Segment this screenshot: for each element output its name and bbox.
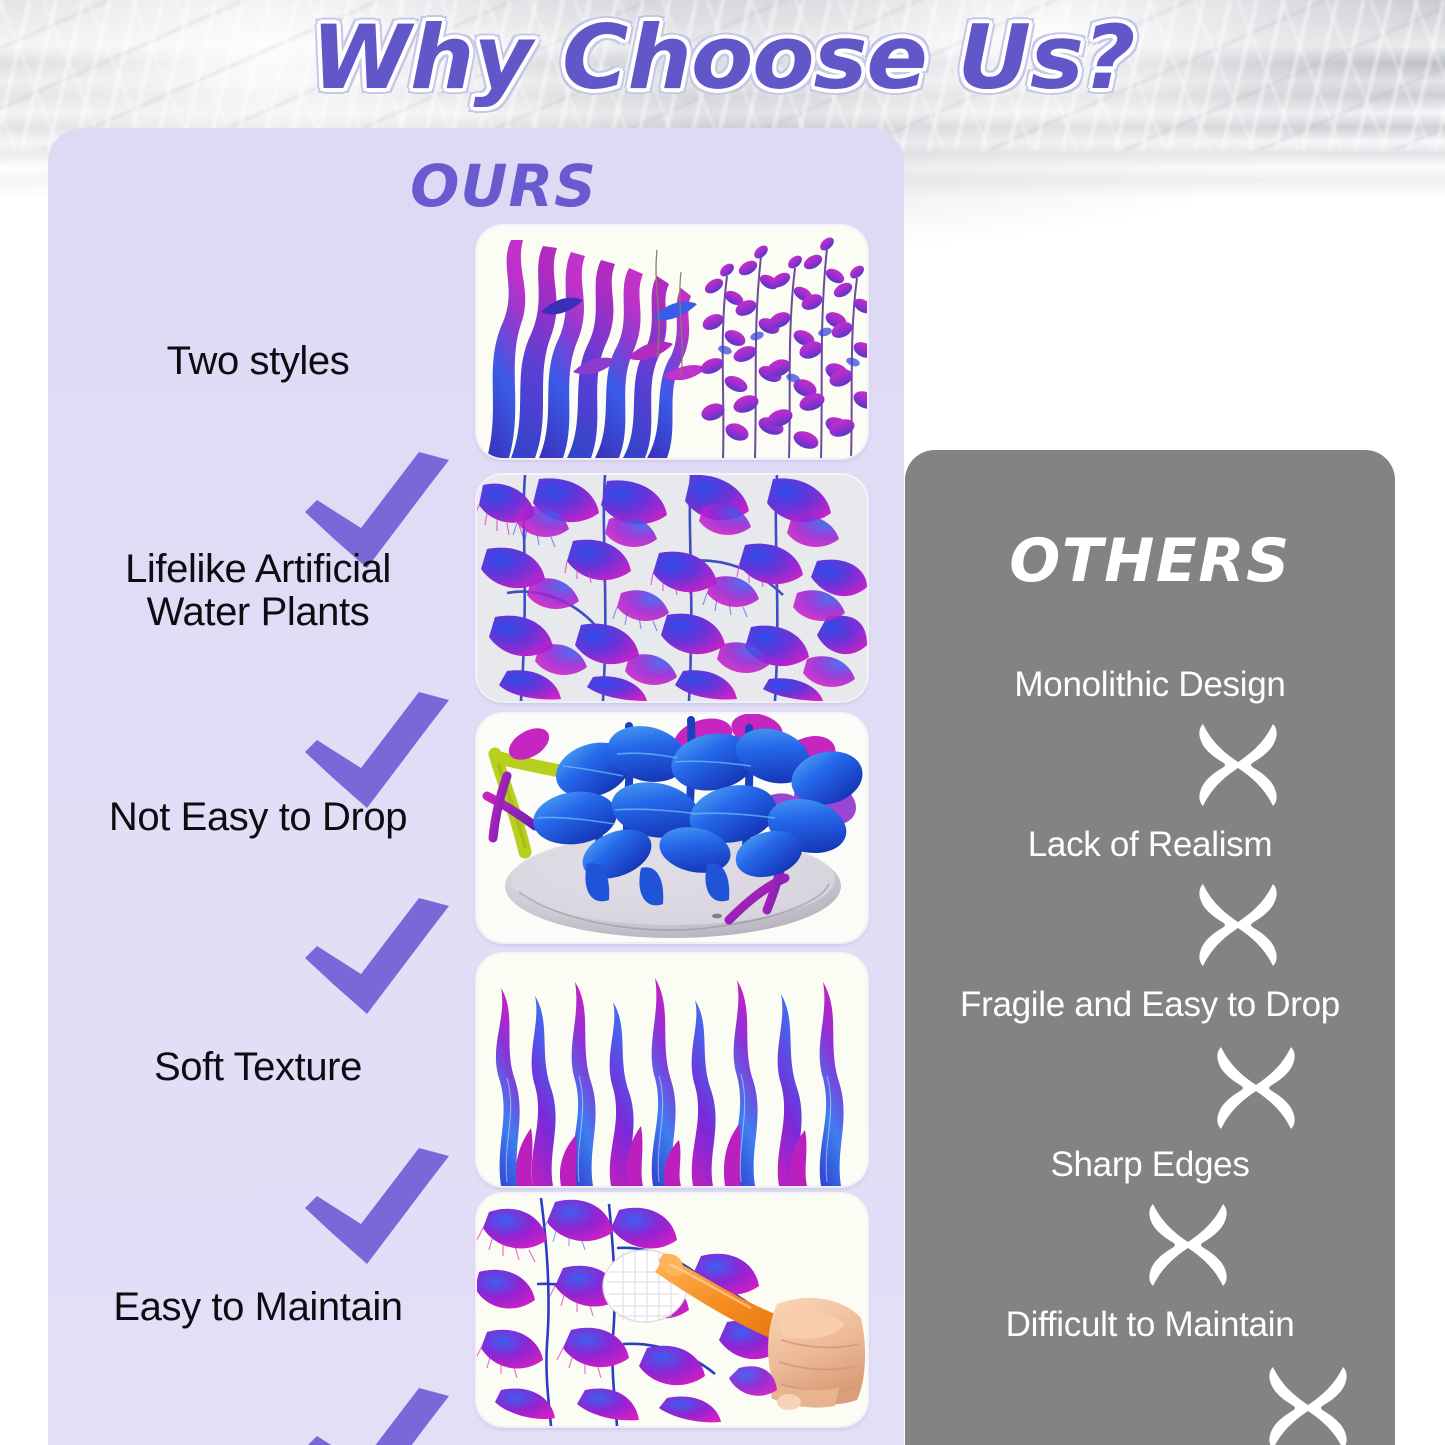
ours-panel: OURS Two styles xyxy=(48,128,904,1445)
lifelike-leaves-photo xyxy=(477,475,867,701)
ours-item-label-5: Easy to Maintain xyxy=(58,1286,458,1329)
ours-item-label-3: Not Easy to Drop xyxy=(58,796,458,839)
others-panel: OTHERS Monolithic Design Lack of Realism… xyxy=(905,450,1395,1445)
cross-icon xyxy=(1213,1045,1299,1131)
others-item-label-5: Difficult to Maintain xyxy=(905,1305,1395,1345)
others-item-label-2: Lack of Realism xyxy=(905,825,1395,865)
page-title-wrap: Why Choose Us? xyxy=(0,6,1445,109)
check-icon xyxy=(303,896,451,1016)
cross-icon xyxy=(1265,1365,1351,1445)
weighted-base-photo xyxy=(477,714,867,942)
others-item-label-4: Sharp Edges xyxy=(905,1145,1395,1185)
check-icon xyxy=(303,1386,451,1445)
others-heading: OTHERS xyxy=(1009,526,1291,596)
page-title: Why Choose Us? xyxy=(311,6,1134,109)
others-heading-wrap: OTHERS xyxy=(905,526,1395,596)
soft-texture-photo xyxy=(477,954,867,1186)
ours-item-label-2: Lifelike Artificial Water Plants xyxy=(58,548,458,634)
cross-icon xyxy=(1195,722,1281,808)
others-item-label-3: Fragile and Easy to Drop xyxy=(905,985,1395,1025)
check-icon xyxy=(303,690,451,810)
ours-heading-wrap: OURS xyxy=(48,152,904,220)
ours-item-label-4: Soft Texture xyxy=(58,1046,458,1089)
cross-icon xyxy=(1195,882,1281,968)
ours-heading: OURS xyxy=(410,152,597,220)
easy-to-clean-photo xyxy=(477,1194,867,1426)
ours-item-label-1: Two styles xyxy=(58,340,458,383)
check-icon xyxy=(303,1146,451,1266)
others-item-label-1: Monolithic Design xyxy=(905,665,1395,705)
cross-icon xyxy=(1145,1202,1231,1288)
two-plant-styles-photo xyxy=(477,226,867,458)
